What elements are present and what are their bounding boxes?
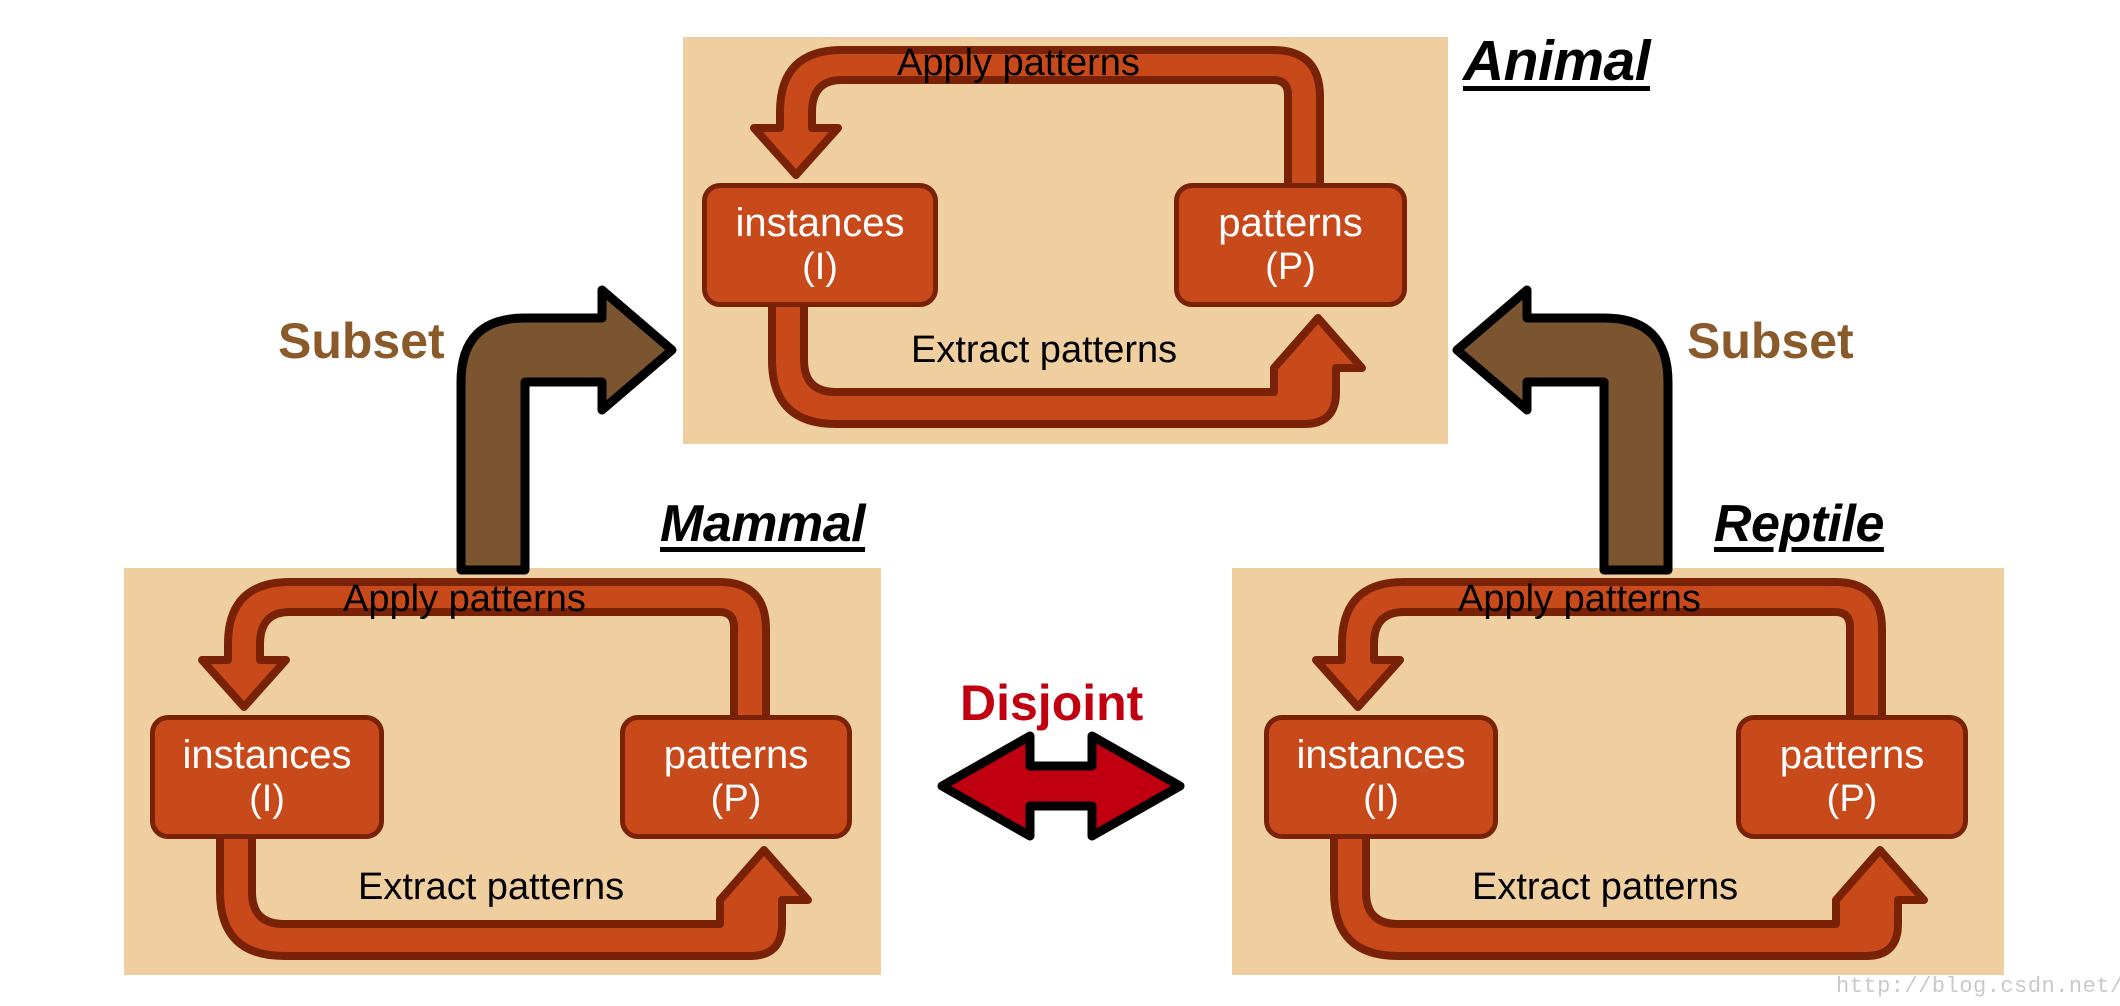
node-label-line2: (I) [249, 778, 285, 821]
edge-label-reptile-apply: Apply patterns [1458, 578, 1701, 621]
node-animal-instances[interactable]: instances (I) [702, 183, 938, 307]
node-mammal-instances[interactable]: instances (I) [150, 715, 384, 839]
edge-label-animal-apply: Apply patterns [897, 42, 1140, 85]
node-label-line1: instances [736, 201, 905, 246]
watermark-text: http://blog.csdn.net/iloveayu [1836, 974, 2120, 999]
group-title-animal: Animal [1463, 28, 1650, 94]
node-mammal-patterns[interactable]: patterns (P) [620, 715, 852, 839]
arrow-subset-right [1457, 290, 1668, 570]
group-title-reptile: Reptile [1714, 494, 1884, 554]
node-reptile-instances[interactable]: instances (I) [1264, 715, 1498, 839]
node-label-line2: (I) [802, 246, 838, 289]
relation-label-disjoint: Disjoint [960, 674, 1143, 732]
diagram-canvas: Animal Apply patterns Extract patterns i… [0, 0, 2120, 1006]
relation-label-subset-left: Subset [278, 312, 445, 370]
node-label-line2: (P) [711, 778, 762, 821]
edge-label-mammal-extract: Extract patterns [358, 866, 624, 909]
relation-label-subset-right: Subset [1687, 312, 1854, 370]
node-label-line1: patterns [1218, 201, 1363, 246]
node-label-line2: (P) [1827, 778, 1878, 821]
node-label-line1: instances [1297, 733, 1466, 778]
edge-label-animal-extract: Extract patterns [911, 329, 1177, 372]
node-label-line2: (I) [1363, 778, 1399, 821]
node-reptile-patterns[interactable]: patterns (P) [1736, 715, 1968, 839]
node-label-line2: (P) [1265, 246, 1316, 289]
arrow-subset-left [461, 290, 672, 570]
group-title-mammal: Mammal [660, 494, 865, 554]
node-animal-patterns[interactable]: patterns (P) [1174, 183, 1407, 307]
node-label-line1: patterns [664, 733, 809, 778]
edge-label-mammal-apply: Apply patterns [343, 578, 586, 621]
node-label-line1: patterns [1780, 733, 1925, 778]
node-label-line1: instances [183, 733, 352, 778]
edge-label-reptile-extract: Extract patterns [1472, 866, 1738, 909]
arrow-disjoint [942, 736, 1180, 836]
